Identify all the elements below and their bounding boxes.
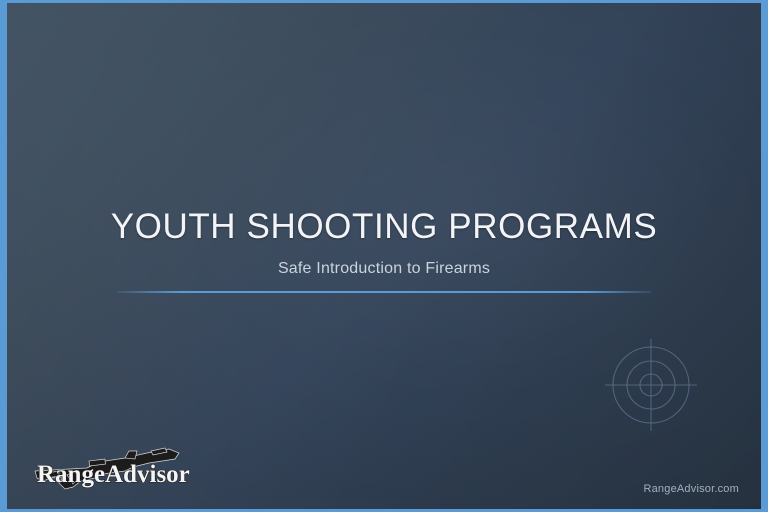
rangeadvisor-logo: RangeAdvisor	[29, 431, 201, 497]
title-divider	[117, 291, 651, 293]
presentation-slide: YOUTH SHOOTING PROGRAMS Safe Introductio…	[0, 0, 768, 512]
title-block: YOUTH SHOOTING PROGRAMS Safe Introductio…	[7, 209, 761, 293]
page-title: YOUTH SHOOTING PROGRAMS	[7, 209, 761, 246]
logo-wordmark: RangeAdvisor	[37, 461, 190, 488]
footer-website: RangeAdvisor.com	[643, 483, 739, 495]
page-subtitle: Safe Introduction to Firearms	[7, 260, 761, 278]
crosshair-target-icon	[603, 337, 699, 433]
